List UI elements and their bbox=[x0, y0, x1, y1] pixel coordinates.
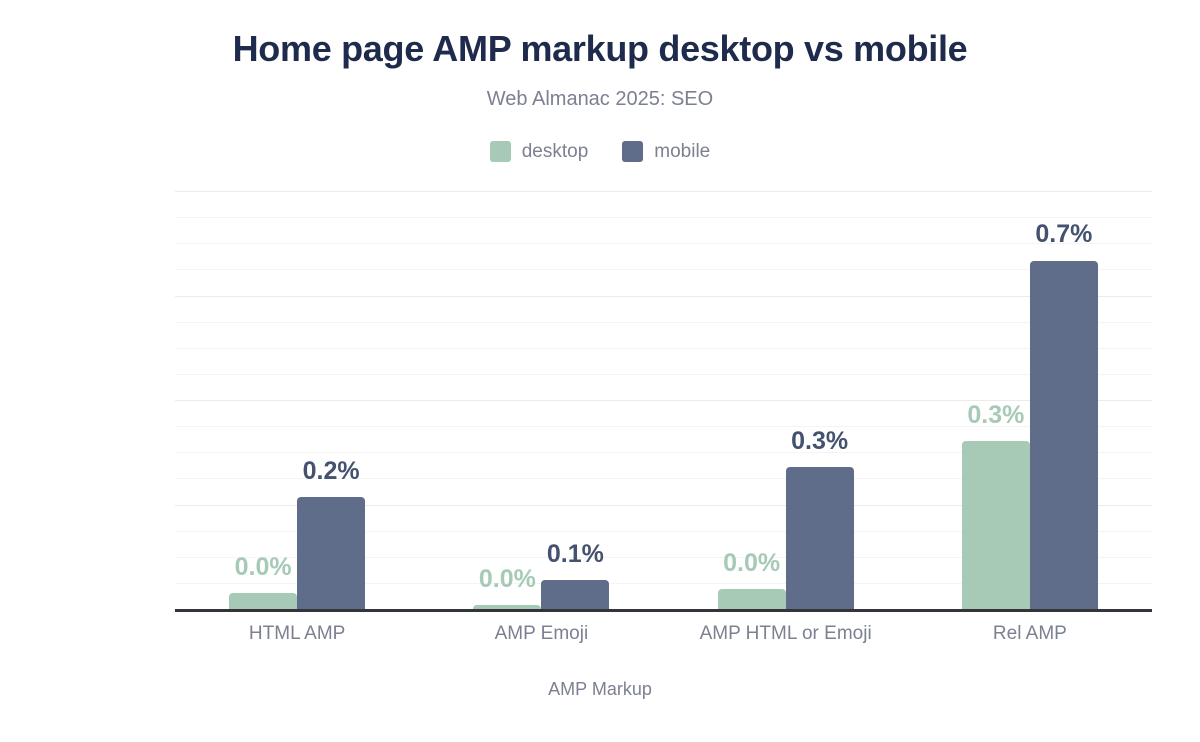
legend-label-desktop: desktop bbox=[522, 142, 589, 161]
x-axis-baseline bbox=[175, 609, 1152, 612]
data-label-mobile-3: 0.7% bbox=[1035, 220, 1092, 249]
bar-mobile-3[interactable] bbox=[1030, 261, 1098, 610]
x-axis-tick-label: AMP Emoji bbox=[495, 623, 589, 645]
x-axis-tick-label: Rel AMP bbox=[993, 623, 1067, 645]
legend-label-mobile: mobile bbox=[654, 142, 710, 161]
bar-desktop-3[interactable] bbox=[962, 441, 1030, 609]
legend-item-desktop[interactable]: desktop bbox=[490, 141, 589, 162]
plot-area: 0.0%0.2%0.4%0.6%0.8% 0.0%0.2%0.0%0.1%0.0… bbox=[175, 191, 1152, 609]
x-axis-tick-label: AMP HTML or Emoji bbox=[700, 623, 872, 645]
bar-group: 0.3%0.7% bbox=[175, 191, 1152, 609]
chart-subtitle: Web Almanac 2025: SEO bbox=[0, 88, 1200, 111]
legend-swatch-mobile bbox=[622, 141, 643, 162]
x-axis-title: AMP Markup bbox=[0, 679, 1200, 700]
chart-legend: desktop mobile bbox=[0, 141, 1200, 162]
data-label-desktop-3: 0.3% bbox=[967, 401, 1024, 430]
legend-swatch-desktop bbox=[490, 141, 511, 162]
chart-title: Home page AMP markup desktop vs mobile bbox=[0, 28, 1200, 70]
x-axis-tick-label: HTML AMP bbox=[249, 623, 345, 645]
legend-item-mobile[interactable]: mobile bbox=[622, 141, 710, 162]
